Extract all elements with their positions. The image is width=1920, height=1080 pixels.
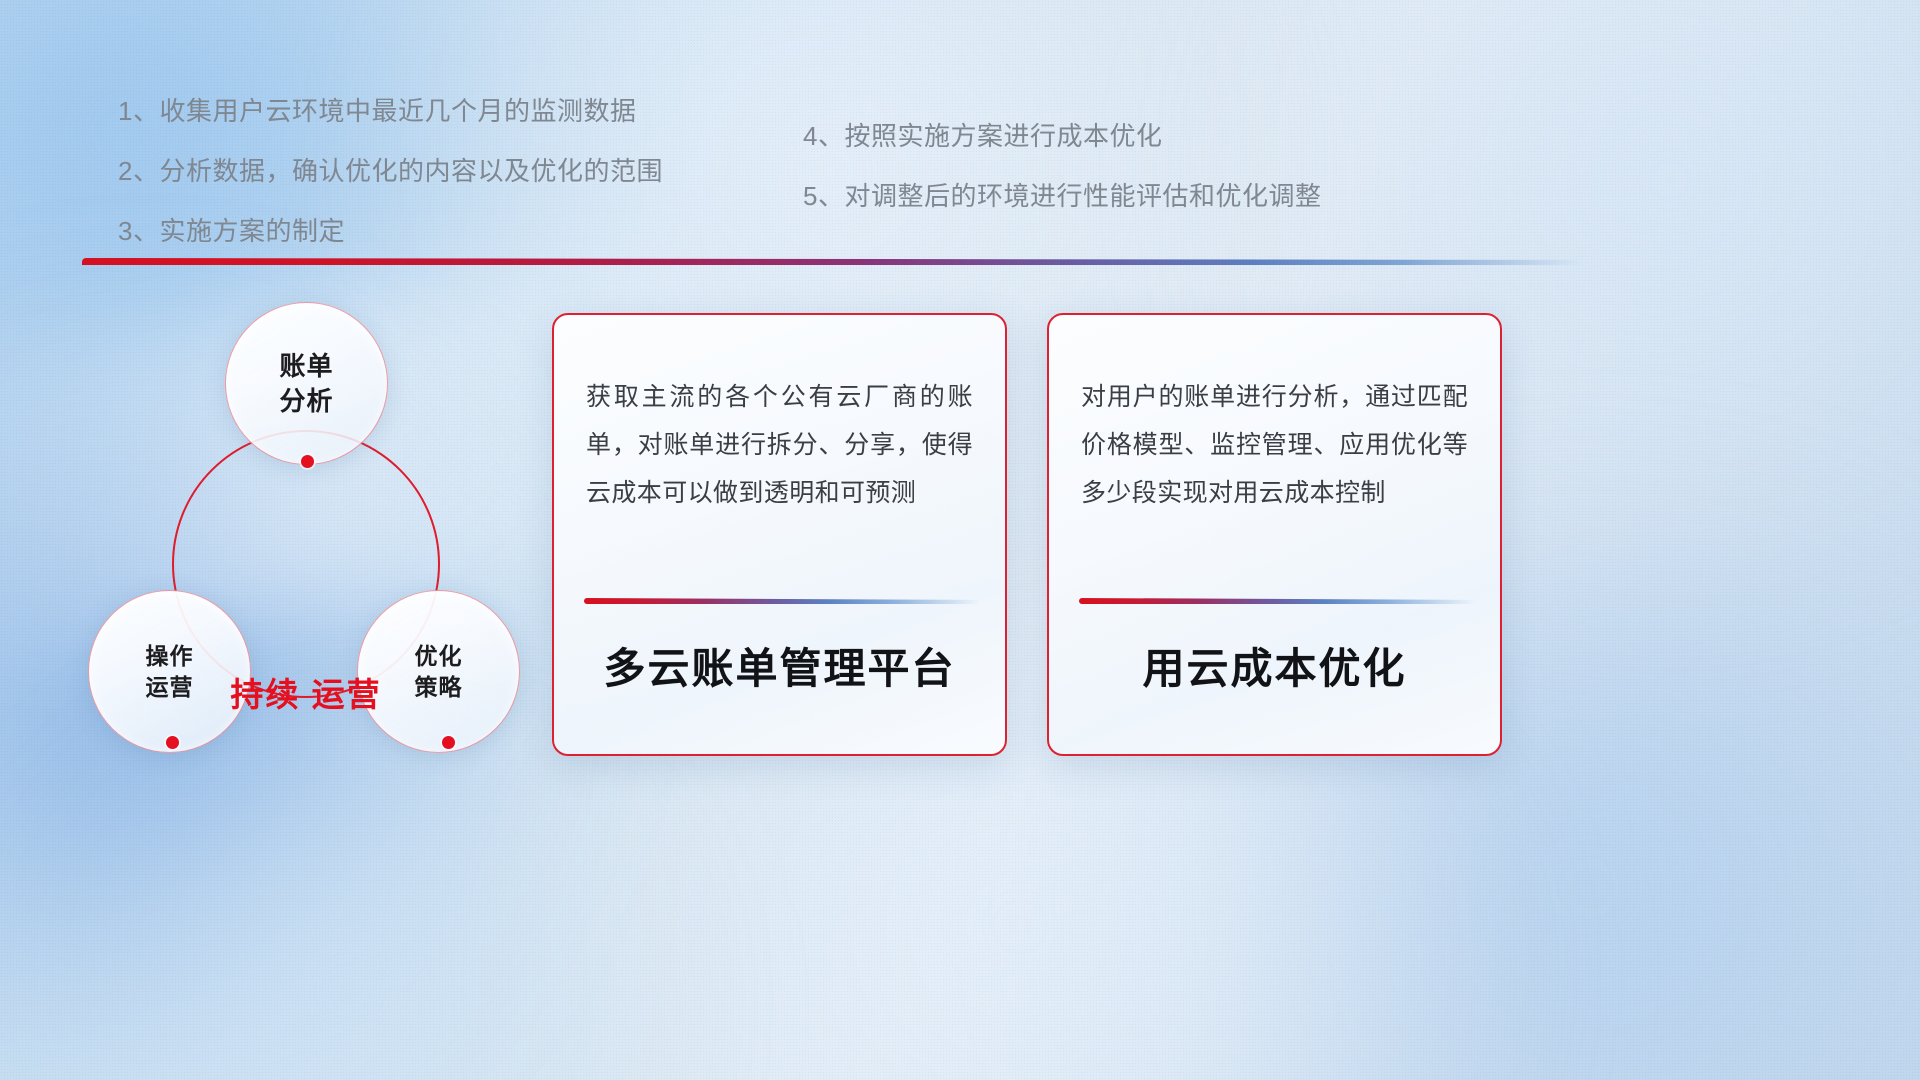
bubble-label-line1: 优化	[415, 641, 463, 671]
step-item-3: 3、实施方案的制定	[118, 218, 663, 244]
card-multi-cloud-bill-platform[interactable]: 获取主流的各个公有云厂商的账单，对账单进行拆分、分享，使得云成本可以做到透明和可…	[552, 313, 1007, 756]
step-item-5: 5、对调整后的环境进行性能评估和优化调整	[803, 183, 1321, 209]
bubble-label-line2: 运营	[146, 672, 194, 702]
continuous-operation-diagram: 账单 分析 操作 运营 优化 策略 持续 运营	[80, 290, 550, 770]
steps-list-right: 4、按照实施方案进行成本优化 5、对调整后的环境进行性能评估和优化调整	[803, 123, 1321, 209]
diagram-bubble-operation[interactable]: 操作 运营	[88, 590, 251, 753]
center-label-line2: 运营	[312, 676, 382, 713]
diagram-center-label: 持续 运营	[218, 675, 394, 716]
card-body-text: 获取主流的各个公有云厂商的账单，对账单进行拆分、分享，使得云成本可以做到透明和可…	[586, 373, 973, 517]
card-cloud-cost-optimization[interactable]: 对用户的账单进行分析，通过匹配价格模型、监控管理、应用优化等多少段实现对用云成本…	[1047, 313, 1502, 756]
bubble-label-line1: 操作	[146, 641, 194, 671]
diagram-bubble-bill-analysis[interactable]: 账单 分析	[225, 302, 388, 465]
bubble-label-line1: 账单	[279, 349, 333, 383]
diagram-bubble-optimization-strategy[interactable]: 优化 策略	[357, 590, 520, 753]
card-title: 用云成本优化	[1049, 635, 1500, 696]
bubble-label-line2: 分析	[279, 384, 333, 418]
step-item-1: 1、收集用户云环境中最近几个月的监测数据	[118, 98, 663, 124]
diagram-node-dot-bottom-left	[166, 736, 179, 749]
diagram-node-dot-top	[301, 455, 314, 468]
card-body-text: 对用户的账单进行分析，通过匹配价格模型、监控管理、应用优化等多少段实现对用云成本…	[1081, 373, 1468, 517]
steps-list-left: 1、收集用户云环境中最近几个月的监测数据 2、分析数据，确认优化的内容以及优化的…	[118, 98, 663, 244]
bubble-label-line2: 策略	[415, 672, 463, 702]
diagram-node-dot-bottom-right	[442, 736, 455, 749]
center-label-line1: 持续	[230, 676, 300, 713]
card-title: 多云账单管理平台	[554, 635, 1005, 696]
step-item-4: 4、按照实施方案进行成本优化	[803, 123, 1321, 149]
step-item-2: 2、分析数据，确认优化的内容以及优化的范围	[118, 158, 663, 184]
